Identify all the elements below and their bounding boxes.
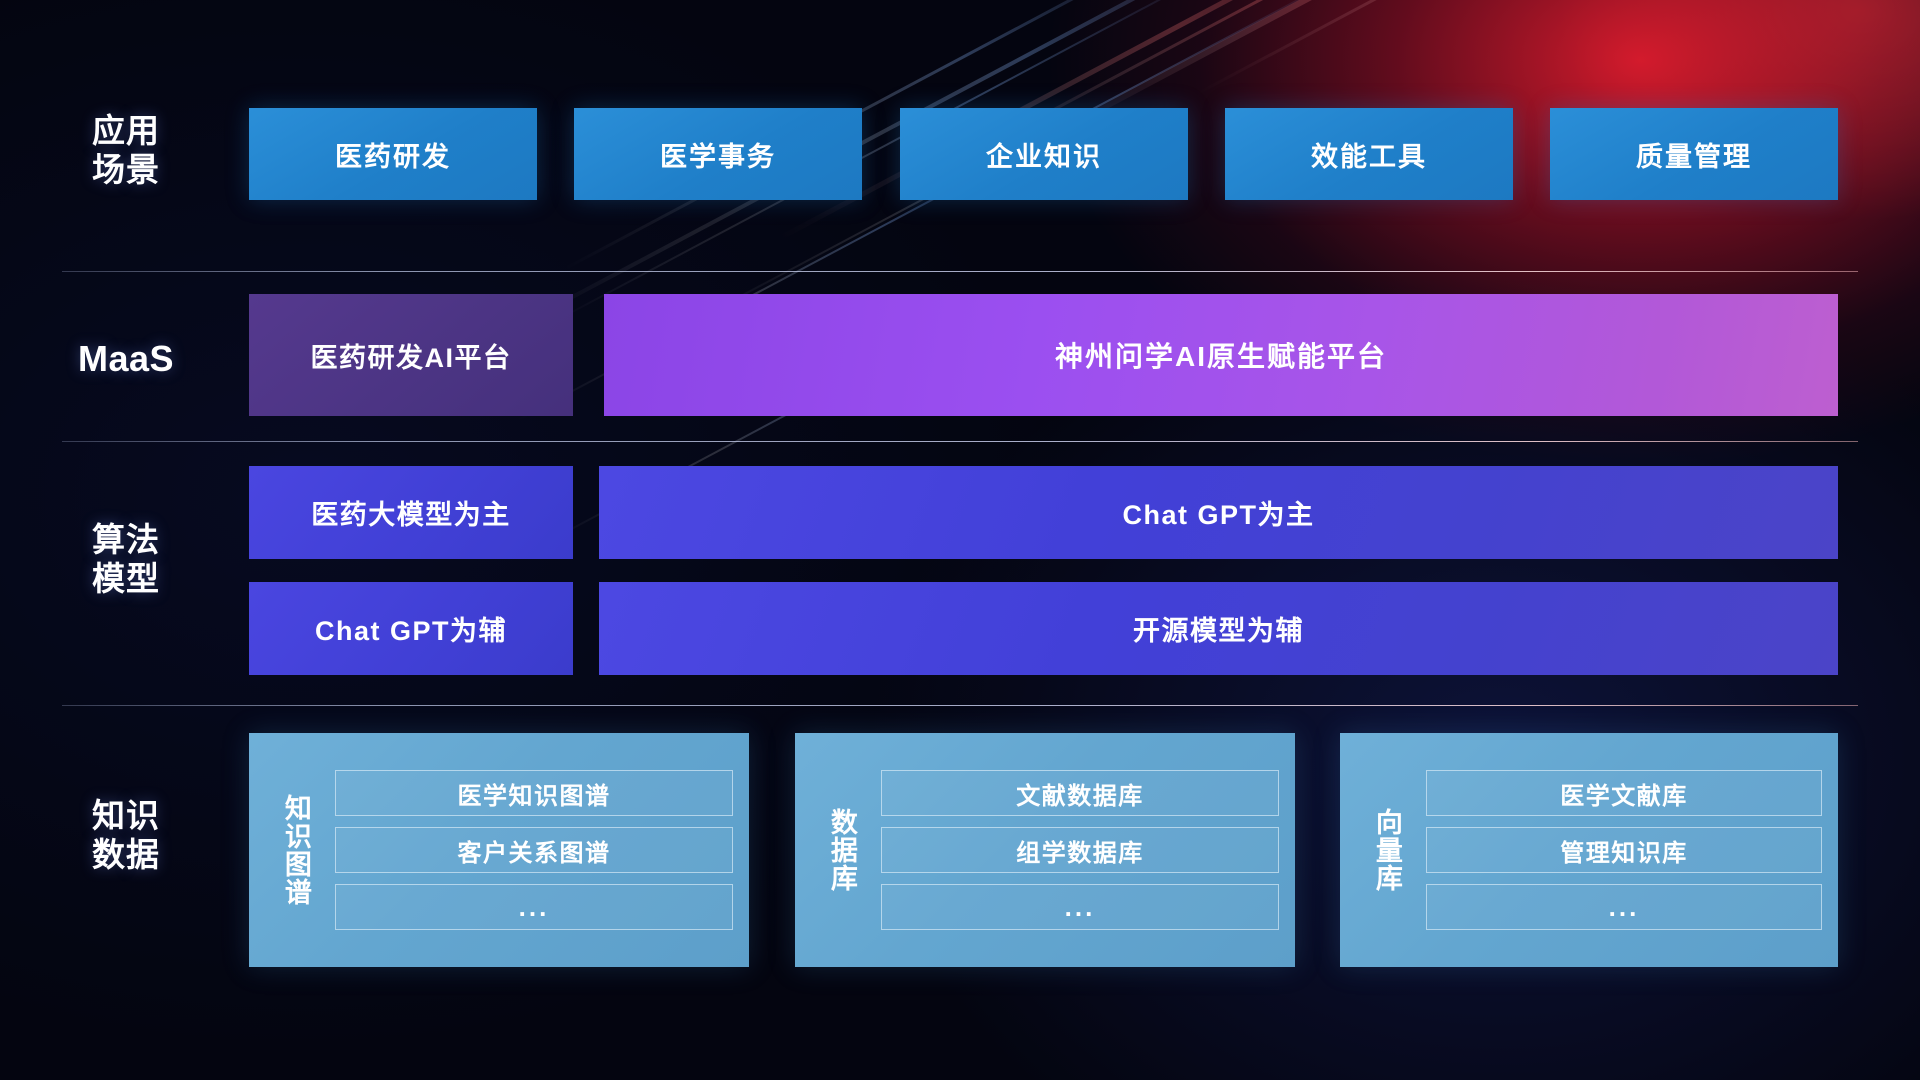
app-box-0-label: 医药研发 <box>335 135 451 174</box>
divider-maas-algorithm <box>62 441 1858 442</box>
knowledge-item-vector-2[interactable]: ... <box>1426 884 1822 930</box>
algo-box-opensource-secondary-label: 开源模型为辅 <box>1133 609 1304 648</box>
row-label-knowledge: 知识 数据 <box>62 797 190 875</box>
knowledge-panel-database-label: 数据库 <box>813 808 869 892</box>
maas-box-shenzhou-platform[interactable]: 神州问学AI原生赋能平台 <box>604 294 1838 416</box>
divider-application-maas <box>62 271 1858 272</box>
knowledge-item-database-1[interactable]: 组学数据库 <box>881 827 1279 873</box>
algo-box-chatgpt-primary-label: Chat GPT为主 <box>1122 493 1314 532</box>
app-box-2[interactable]: 企业知识 <box>900 108 1188 200</box>
knowledge-item-database-2[interactable]: ... <box>881 884 1279 930</box>
knowledge-panel-graph-items: 医学知识图谱 客户关系图谱 ... <box>335 747 733 953</box>
knowledge-panel-graph[interactable]: 知识图谱 医学知识图谱 客户关系图谱 ... <box>249 733 749 967</box>
row-label-maas-text: MaaS <box>62 338 190 380</box>
knowledge-item-graph-2[interactable]: ... <box>335 884 733 930</box>
architecture-diagram: 应用 场景 医药研发 医学事务 企业知识 效能工具 质量管理 MaaS 医药研发… <box>0 0 1920 1080</box>
app-box-3[interactable]: 效能工具 <box>1225 108 1513 200</box>
knowledge-panel-vector-items: 医学文献库 管理知识库 ... <box>1426 747 1822 953</box>
knowledge-panel-graph-label: 知识图谱 <box>267 794 323 906</box>
knowledge-item-vector-1[interactable]: 管理知识库 <box>1426 827 1822 873</box>
row-label-application-line1: 应用 <box>62 112 190 151</box>
algo-box-chatgpt-primary[interactable]: Chat GPT为主 <box>599 466 1838 559</box>
row-label-knowledge-line1: 知识 <box>62 797 190 836</box>
row-label-application-line2: 场景 <box>62 151 190 190</box>
app-box-4[interactable]: 质量管理 <box>1550 108 1838 200</box>
row-label-application: 应用 场景 <box>62 112 190 190</box>
app-box-1-label: 医学事务 <box>660 135 776 174</box>
algo-box-chatgpt-secondary[interactable]: Chat GPT为辅 <box>249 582 573 675</box>
app-box-0[interactable]: 医药研发 <box>249 108 537 200</box>
row-label-knowledge-line2: 数据 <box>62 836 190 875</box>
app-box-3-label: 效能工具 <box>1311 135 1427 174</box>
knowledge-panel-database-items: 文献数据库 组学数据库 ... <box>881 747 1279 953</box>
row-label-algorithm-line1: 算法 <box>62 521 190 560</box>
algo-box-medical-primary[interactable]: 医药大模型为主 <box>249 466 573 559</box>
maas-box-shenzhou-platform-label: 神州问学AI原生赋能平台 <box>1055 335 1387 375</box>
row-label-algorithm: 算法 模型 <box>62 521 190 599</box>
row-label-algorithm-line2: 模型 <box>62 560 190 599</box>
app-box-2-label: 企业知识 <box>986 135 1102 174</box>
app-box-1[interactable]: 医学事务 <box>574 108 862 200</box>
algo-box-chatgpt-secondary-label: Chat GPT为辅 <box>315 609 507 648</box>
knowledge-panel-vector[interactable]: 向量库 医学文献库 管理知识库 ... <box>1340 733 1838 967</box>
knowledge-panel-vector-label: 向量库 <box>1358 808 1414 892</box>
algo-box-medical-primary-label: 医药大模型为主 <box>311 493 511 532</box>
algo-box-opensource-secondary[interactable]: 开源模型为辅 <box>599 582 1838 675</box>
divider-algorithm-knowledge <box>62 705 1858 706</box>
knowledge-item-vector-0[interactable]: 医学文献库 <box>1426 770 1822 816</box>
knowledge-item-database-0[interactable]: 文献数据库 <box>881 770 1279 816</box>
maas-box-medical-platform[interactable]: 医药研发AI平台 <box>249 294 573 416</box>
knowledge-item-graph-0[interactable]: 医学知识图谱 <box>335 770 733 816</box>
knowledge-item-graph-1[interactable]: 客户关系图谱 <box>335 827 733 873</box>
maas-box-medical-platform-label: 医药研发AI平台 <box>311 336 512 375</box>
knowledge-panel-database[interactable]: 数据库 文献数据库 组学数据库 ... <box>795 733 1295 967</box>
row-label-maas: MaaS <box>62 338 190 380</box>
app-box-4-label: 质量管理 <box>1636 135 1752 174</box>
